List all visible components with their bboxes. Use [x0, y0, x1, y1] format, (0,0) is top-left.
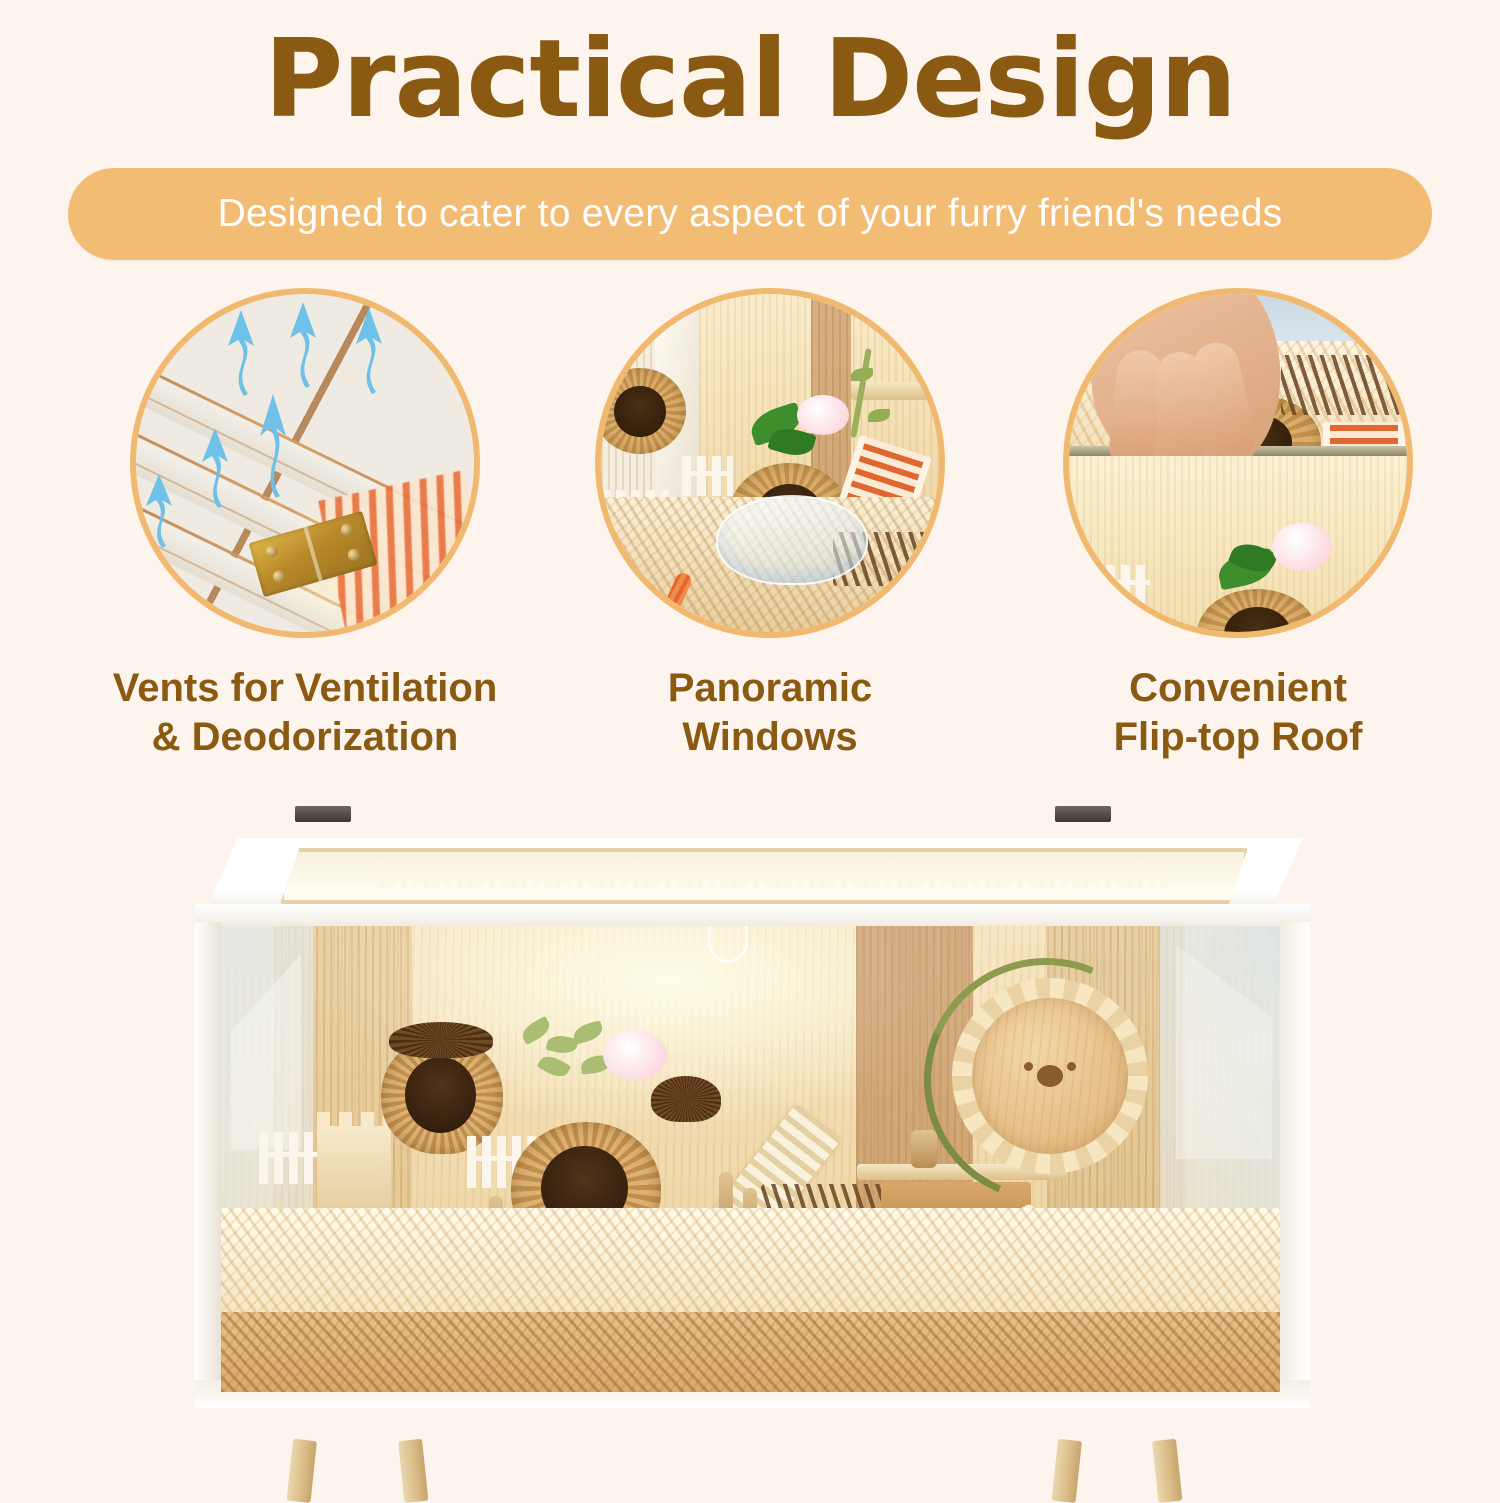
airflow-vents-icon [130, 288, 480, 638]
feature-caption: Panoramic Windows [668, 664, 873, 762]
hamster-cage [175, 800, 1300, 1440]
led-wire [708, 926, 748, 963]
cage-leg [287, 1439, 317, 1503]
airflow-arrow-icon [352, 304, 386, 396]
flip-top-roof-icon [1063, 288, 1413, 638]
feature-panoramic-windows: Panoramic Windows [550, 288, 990, 768]
cage-leg [398, 1439, 428, 1503]
hinge-icon [1055, 806, 1111, 822]
airflow-arrow-icon [256, 390, 290, 500]
feature-flip-top-roof: Convenient Flip-top Roof [1018, 288, 1458, 768]
airflow-arrow-icon [286, 298, 320, 390]
airflow-arrow-icon [142, 470, 176, 550]
cage-leg [1152, 1439, 1182, 1503]
cage-legs [0, 1440, 1500, 1500]
cage-body [195, 904, 1310, 1404]
lid-window [280, 848, 1248, 904]
subtitle-text: Designed to cater to every aspect of you… [218, 192, 1283, 236]
infographic-page: Practical Design Designed to cater to ev… [0, 0, 1500, 1500]
subtitle-banner: Designed to cater to every aspect of you… [68, 168, 1432, 260]
flower-decor [1272, 523, 1332, 571]
sand-bath-dome [716, 495, 868, 585]
page-title: Practical Design [0, 22, 1500, 139]
airflow-arrow-icon [198, 424, 232, 510]
airflow-arrow-icon [224, 306, 258, 398]
feature-caption: Vents for Ventilation & Deodorization [113, 664, 498, 762]
panoramic-window-icon [595, 288, 945, 638]
hinge-icon [295, 806, 351, 822]
hero-product-image [0, 790, 1500, 1490]
flower-decor [603, 1030, 667, 1080]
feature-caption: Convenient Flip-top Roof [1114, 664, 1363, 762]
cage-leg [1052, 1439, 1082, 1503]
feature-vents: Vents for Ventilation & Deodorization [85, 288, 525, 768]
cage-interior [221, 926, 1280, 1392]
feature-row: Vents for Ventilation & Deodorization [0, 288, 1500, 768]
